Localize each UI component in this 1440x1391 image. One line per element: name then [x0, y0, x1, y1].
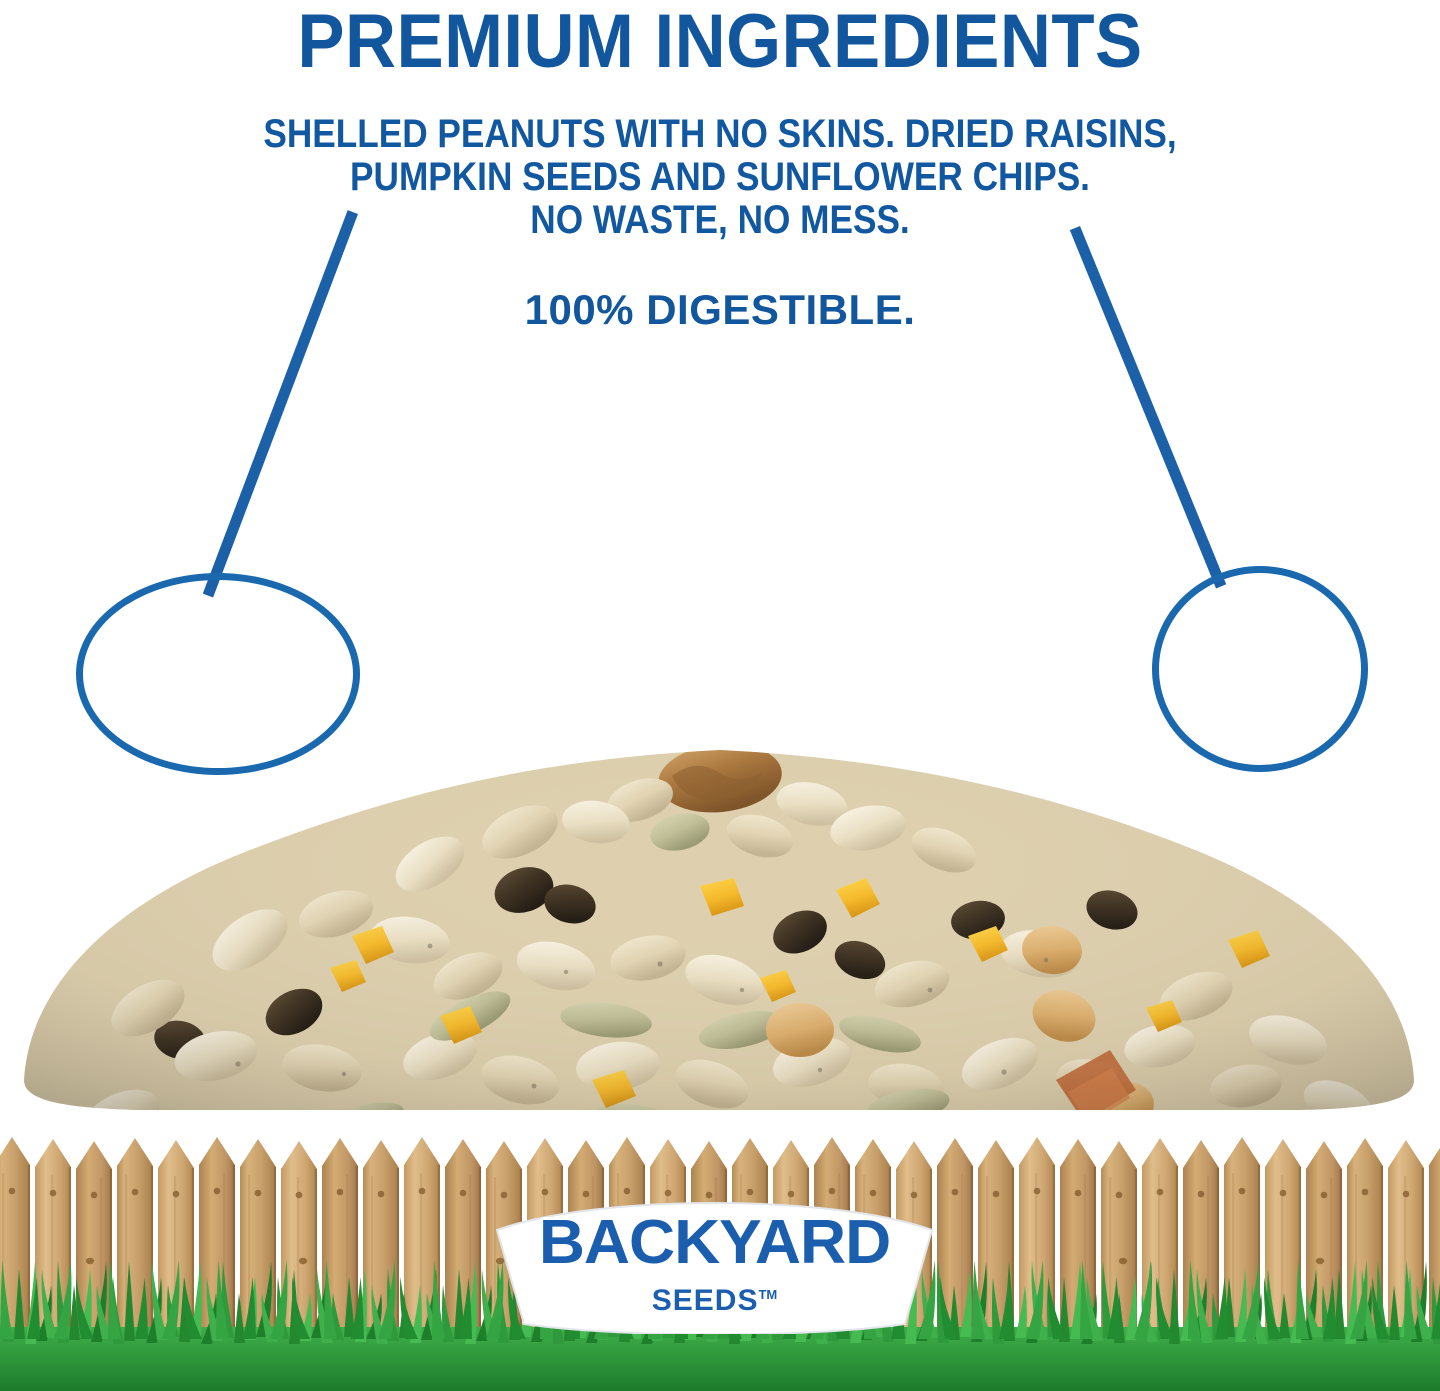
product-line-name: SEEDSTM [487, 1280, 942, 1316]
digestible-claim: 100% DIGESTIBLE. [0, 287, 1440, 333]
brand-name: BACKYARD [480, 1212, 949, 1274]
brand-logo: BACKYARD SEEDSTM [487, 1186, 942, 1334]
right-callout-circle [1152, 566, 1368, 772]
subheading: SHELLED PEANUTS WITH NO SKINS. DRIED RAI… [86, 113, 1353, 242]
left-callout-circle [76, 573, 360, 775]
subheading-line-2: PUMPKIN SEEDS AND SUNFLOWER CHIPS. [86, 156, 1353, 199]
subheading-line-1: SHELLED PEANUTS WITH NO SKINS. DRIED RAI… [86, 113, 1353, 156]
product-feature-image: PREMIUM INGREDIENTS SHELLED PEANUTS WITH… [0, 0, 1440, 1391]
subheading-line-3: NO WASTE, NO MESS. [86, 199, 1353, 242]
page-title: PREMIUM INGREDIENTS [50, 2, 1389, 82]
product-line-label: SEEDS [652, 1284, 759, 1317]
trademark-symbol: TM [758, 1287, 777, 1302]
